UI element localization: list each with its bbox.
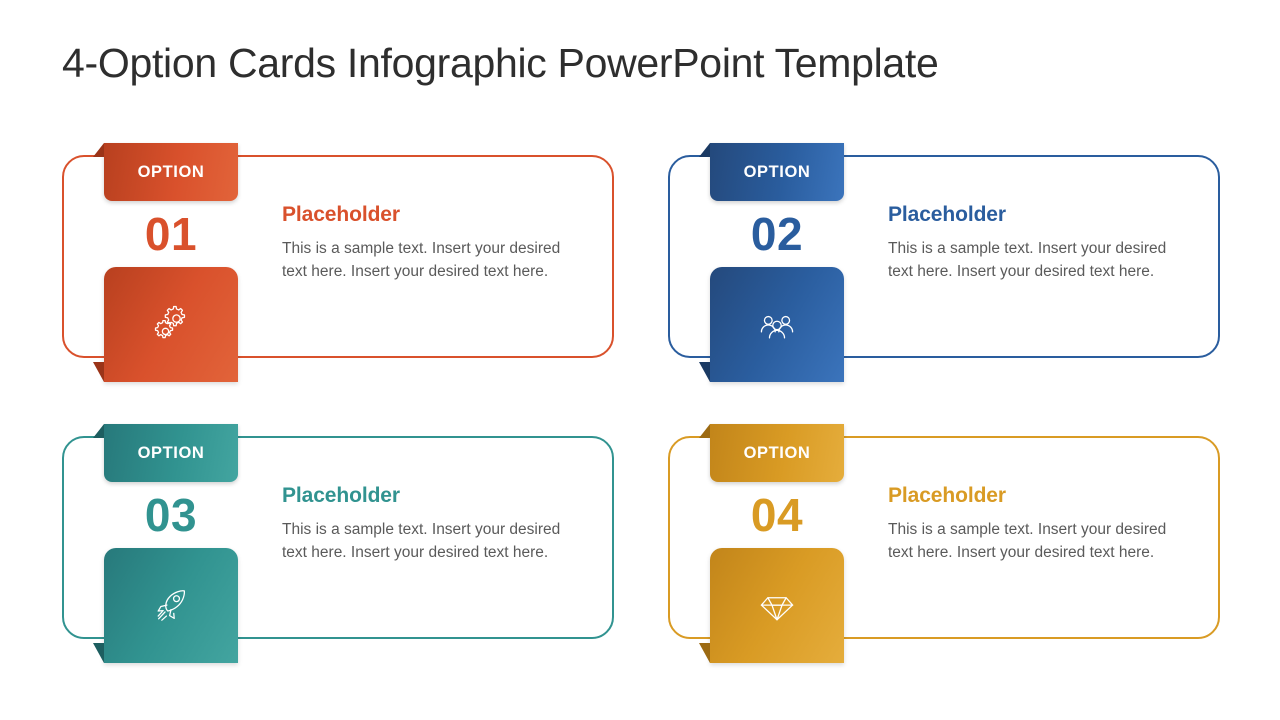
card-icon-block[interactable] (710, 548, 844, 663)
card-heading: Placeholder (888, 484, 1178, 508)
card-left-column: OPTION 02 (710, 143, 844, 382)
card-number: 03 (104, 482, 238, 548)
icon-fold-shadow (699, 362, 710, 382)
option-card-01[interactable]: OPTION 01 (62, 155, 614, 358)
card-number: 04 (710, 482, 844, 548)
card-body-text: This is a sample text. Insert your desir… (282, 237, 572, 283)
card-heading: Placeholder (282, 484, 572, 508)
icon-fold-shadow (93, 643, 104, 663)
card-heading: Placeholder (888, 203, 1178, 227)
option-card-03[interactable]: OPTION 03 (62, 436, 614, 639)
ribbon-label: OPTION (744, 163, 811, 182)
diamond-icon (755, 584, 799, 628)
gears-icon (149, 303, 193, 347)
ribbon-fold-shadow (699, 143, 710, 157)
ribbon-label: OPTION (744, 444, 811, 463)
card-body-text: This is a sample text. Insert your desir… (888, 237, 1178, 283)
card-left-column: OPTION 03 (104, 424, 238, 663)
option-ribbon[interactable]: OPTION (104, 143, 238, 201)
option-ribbon[interactable]: OPTION (710, 424, 844, 482)
card-left-column: OPTION 04 (710, 424, 844, 663)
card-text-area: Placeholder This is a sample text. Inser… (282, 203, 572, 283)
slide-canvas: 4-Option Cards Infographic PowerPoint Te… (0, 0, 1280, 720)
card-left-column: OPTION 01 (104, 143, 238, 382)
card-heading: Placeholder (282, 203, 572, 227)
card-body-text: This is a sample text. Insert your desir… (282, 518, 572, 564)
icon-fold-shadow (93, 362, 104, 382)
card-icon-block[interactable] (710, 267, 844, 382)
card-number: 02 (710, 201, 844, 267)
option-ribbon[interactable]: OPTION (104, 424, 238, 482)
card-body-text: This is a sample text. Insert your desir… (888, 518, 1178, 564)
card-number: 01 (104, 201, 238, 267)
card-icon-block[interactable] (104, 548, 238, 663)
option-card-02[interactable]: OPTION 02 (668, 155, 1220, 358)
ribbon-label: OPTION (138, 444, 205, 463)
card-text-area: Placeholder This is a sample text. Inser… (888, 484, 1178, 564)
people-group-icon (755, 303, 799, 347)
rocket-icon (149, 584, 193, 628)
ribbon-label: OPTION (138, 163, 205, 182)
option-ribbon[interactable]: OPTION (710, 143, 844, 201)
card-text-area: Placeholder This is a sample text. Inser… (888, 203, 1178, 283)
card-text-area: Placeholder This is a sample text. Inser… (282, 484, 572, 564)
page-title: 4-Option Cards Infographic PowerPoint Te… (62, 40, 939, 87)
option-cards-grid: OPTION 01 (62, 155, 1220, 639)
icon-fold-shadow (699, 643, 710, 663)
ribbon-fold-shadow (699, 424, 710, 438)
card-icon-block[interactable] (104, 267, 238, 382)
option-card-04[interactable]: OPTION 04 (668, 436, 1220, 639)
